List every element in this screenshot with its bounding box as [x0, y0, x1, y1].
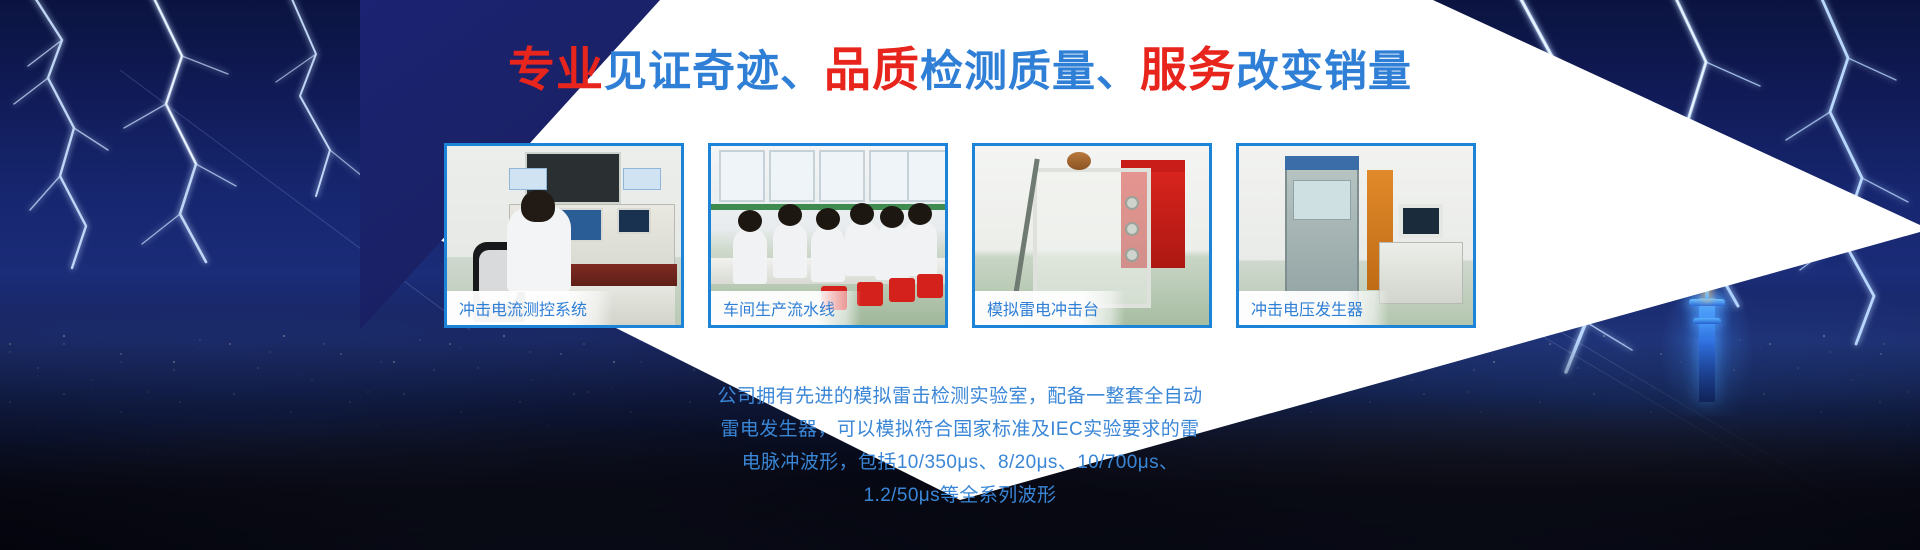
- headline-segment-3: 品质: [824, 43, 920, 96]
- photo-card-list: 冲击电流测控系统 车间生产流水线: [0, 143, 1920, 328]
- photo-card-caption: 冲击电压发生器: [1239, 291, 1389, 325]
- photo-card-caption: 冲击电流测控系统: [447, 291, 613, 325]
- headline-segment-5: 服务: [1140, 43, 1236, 96]
- headline-segment-4: 检测质量、: [920, 48, 1140, 96]
- headline-segment-1: 专业: [508, 43, 604, 96]
- photo-card-caption: 模拟雷电冲击台: [975, 291, 1125, 325]
- photo-card-assembly-line[interactable]: 车间生产流水线: [708, 143, 948, 328]
- headline-segment-6: 改变销量: [1236, 48, 1412, 96]
- description-line-4: 1.2/50μs等全系列波形: [0, 479, 1920, 512]
- description-paragraph: 公司拥有先进的模拟雷击检测实验室，配备一整套全自动 雷电发生器，可以模拟符合国家…: [0, 380, 1920, 512]
- description-line-2: 雷电发生器，可以模拟符合国家标准及IEC实验要求的雷: [0, 413, 1920, 446]
- headline: 专业见证奇迹、品质检测质量、服务改变销量: [0, 46, 1920, 94]
- promo-banner: 专业见证奇迹、品质检测质量、服务改变销量 冲击电流测控系统: [0, 0, 1920, 550]
- photo-card-caption: 车间生产流水线: [711, 291, 861, 325]
- headline-segment-2: 见证奇迹、: [604, 48, 824, 96]
- photo-card-control-room[interactable]: 冲击电流测控系统: [444, 143, 684, 328]
- photo-card-impulse-test-rig[interactable]: 模拟雷电冲击台: [972, 143, 1212, 328]
- photo-card-impulse-voltage-generator[interactable]: 冲击电压发生器: [1236, 143, 1476, 328]
- description-line-1: 公司拥有先进的模拟雷击检测实验室，配备一整套全自动: [0, 380, 1920, 413]
- description-line-3: 电脉冲波形，包括10/350μs、8/20μs、10/700μs、: [0, 446, 1920, 479]
